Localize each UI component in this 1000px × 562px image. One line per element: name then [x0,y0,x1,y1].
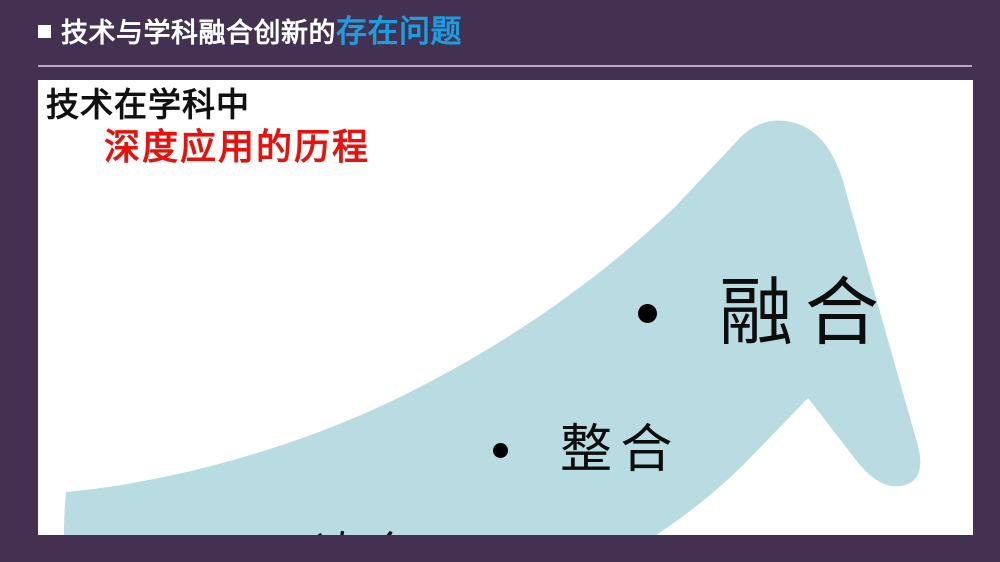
stage-label-fusion: 融合 [719,276,891,350]
slide-canvas: 技术与学科融合创新的 存在问题 技术在学科中 深度应用的历程 融合 整合 凑合 [0,0,1000,562]
stage-item-makeshift: 凑合 [260,532,418,535]
square-bullet-icon [38,25,51,38]
stage-item-fusion: 融合 [638,276,891,350]
slide-title: 技术与学科融合创新的 存在问题 [38,16,462,47]
bullet-dot-icon [493,443,508,458]
title-divider-rule [38,65,972,67]
stage-label-makeshift: 凑合 [316,532,418,535]
slide-title-bar: 技术与学科融合创新的 存在问题 [0,0,1000,68]
stage-item-integration: 整合 [493,424,681,476]
bullet-dot-icon [638,304,657,323]
content-panel: 技术在学科中 深度应用的历程 融合 整合 凑合 [38,80,973,535]
title-accent-text: 存在问题 [336,16,462,47]
stage-label-integration: 整合 [560,424,681,476]
title-main-text: 技术与学科融合创新的 [61,20,336,47]
